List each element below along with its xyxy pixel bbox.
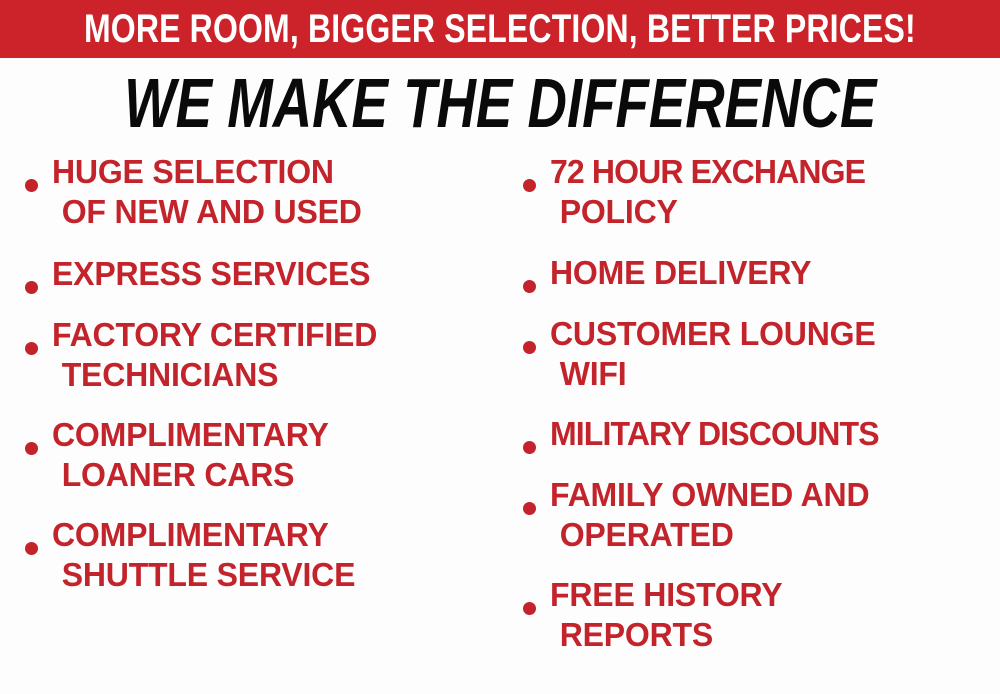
list-item-text: FAMILY OWNED AND OPERATED <box>550 475 1000 555</box>
bullet-dot-icon <box>523 441 536 454</box>
list-item-text: COMPLIMENTARY SHUTTLE SERVICE <box>52 515 500 595</box>
list-item: COMPLIMENTARY LOANER CARS <box>14 415 500 495</box>
list-item-text: 72 HOUR EXCHANGE POLICY <box>550 152 1000 232</box>
benefits-column-right: 72 HOUR EXCHANGE POLICY HOME DELIVERY CU… <box>512 152 1000 671</box>
headline-container: WE MAKE THE DIFFERENCE <box>0 66 1000 140</box>
list-item-text: HUGE SELECTION OF NEW AND USED <box>52 152 500 232</box>
bullet-dot-icon <box>25 442 38 455</box>
list-item-line: OF NEW AND USED <box>52 192 487 232</box>
list-item-line: 72 HOUR EXCHANGE <box>550 152 987 192</box>
list-item-text: FACTORY CERTIFIED TECHNICIANS <box>52 315 500 395</box>
list-item-line: COMPLIMENTARY <box>52 515 487 555</box>
bullet-dot-icon <box>523 179 536 192</box>
list-item: CUSTOMER LOUNGE WIFI <box>512 314 1000 394</box>
list-item-line: CUSTOMER LOUNGE <box>550 314 987 354</box>
list-item-line: COMPLIMENTARY <box>52 415 487 455</box>
list-item-line: FAMILY OWNED AND <box>550 475 987 515</box>
list-item-line: HOME DELIVERY <box>550 253 987 293</box>
list-item: EXPRESS SERVICES <box>14 254 500 294</box>
bullet-dot-icon <box>523 502 536 515</box>
list-item: HUGE SELECTION OF NEW AND USED <box>14 152 500 232</box>
benefits-columns: HUGE SELECTION OF NEW AND USED EXPRESS S… <box>0 152 1000 694</box>
list-item-text: FREE HISTORY REPORTS <box>550 575 1000 655</box>
list-item-line: HUGE SELECTION <box>52 152 487 192</box>
list-item: FREE HISTORY REPORTS <box>512 575 1000 655</box>
list-item-line: REPORTS <box>550 615 987 655</box>
list-item: FAMILY OWNED AND OPERATED <box>512 475 1000 555</box>
list-item-line: LOANER CARS <box>52 455 487 495</box>
bullet-dot-icon <box>25 542 38 555</box>
bullet-dot-icon <box>25 342 38 355</box>
top-banner: MORE ROOM, BIGGER SELECTION, BETTER PRIC… <box>0 0 1000 58</box>
bullet-dot-icon <box>523 341 536 354</box>
list-item-line: WIFI <box>550 354 987 394</box>
list-item-line: POLICY <box>550 192 987 232</box>
list-item: MILITARY DISCOUNTS <box>512 414 1000 454</box>
list-item-line: SHUTTLE SERVICE <box>52 555 487 595</box>
bullet-dot-icon <box>523 280 536 293</box>
bullet-dot-icon <box>25 179 38 192</box>
list-item: 72 HOUR EXCHANGE POLICY <box>512 152 1000 232</box>
list-item-line: FACTORY CERTIFIED <box>52 315 487 355</box>
banner-headline-text: MORE ROOM, BIGGER SELECTION, BETTER PRIC… <box>84 9 916 49</box>
list-item-text: MILITARY DISCOUNTS <box>550 414 1000 454</box>
list-item-text: EXPRESS SERVICES <box>52 254 500 294</box>
list-item-line: EXPRESS SERVICES <box>52 254 487 294</box>
list-item-line: TECHNICIANS <box>52 355 487 395</box>
bullet-dot-icon <box>25 281 38 294</box>
list-item-line: FREE HISTORY <box>550 575 987 615</box>
list-item-text: COMPLIMENTARY LOANER CARS <box>52 415 500 495</box>
list-item: FACTORY CERTIFIED TECHNICIANS <box>14 315 500 395</box>
page-title: WE MAKE THE DIFFERENCE <box>124 68 876 138</box>
list-item-line: MILITARY DISCOUNTS <box>550 414 987 454</box>
list-item-text: CUSTOMER LOUNGE WIFI <box>550 314 1000 394</box>
benefits-column-left: HUGE SELECTION OF NEW AND USED EXPRESS S… <box>14 152 500 611</box>
list-item: HOME DELIVERY <box>512 253 1000 293</box>
promotional-poster: MORE ROOM, BIGGER SELECTION, BETTER PRIC… <box>0 0 1000 694</box>
bullet-dot-icon <box>523 602 536 615</box>
list-item-text: HOME DELIVERY <box>550 253 1000 293</box>
list-item-line: OPERATED <box>550 515 987 555</box>
list-item: COMPLIMENTARY SHUTTLE SERVICE <box>14 515 500 595</box>
